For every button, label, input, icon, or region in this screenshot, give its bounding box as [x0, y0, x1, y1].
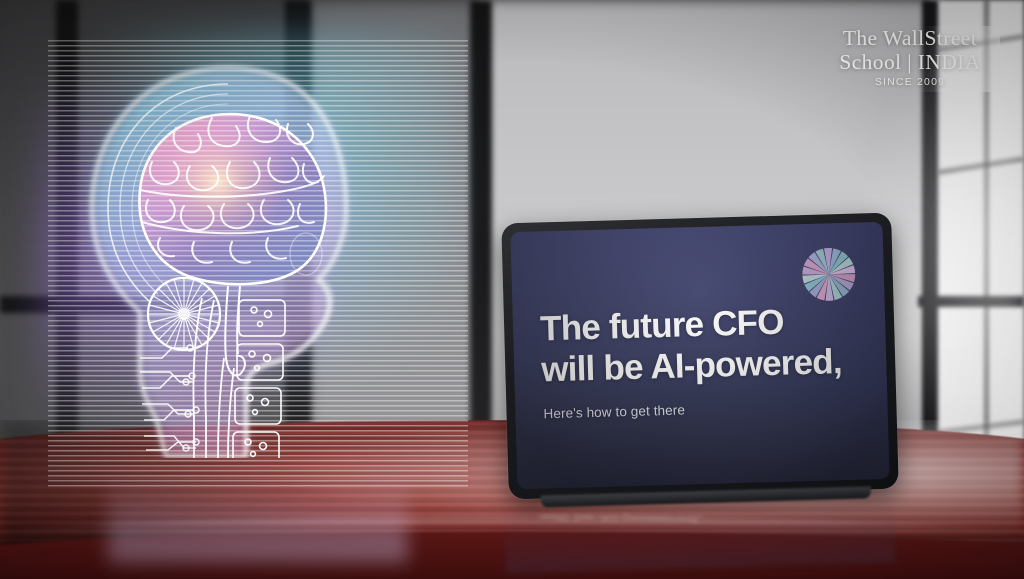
- brand-logo-line2: School | INDIA: [820, 50, 1000, 74]
- ai-brain-head-hologram: [48, 40, 468, 490]
- cerebellum: [148, 278, 220, 350]
- tablet-table-reflection: [504, 493, 896, 574]
- tablet-subheadline: Here's how to get there: [543, 402, 685, 421]
- tablet-headline: The future CFO will be AI-powered,: [540, 300, 877, 391]
- tablet-screen[interactable]: The future CFO will be AI-powered, Here'…: [510, 222, 889, 489]
- pinwheel-icon: [799, 245, 859, 305]
- tablet-headline-line2: will be AI-powered,: [541, 341, 877, 391]
- brand-logo-since: SINCE 2009: [820, 76, 1000, 88]
- hologram-head-svg: [78, 58, 408, 458]
- tablet-device[interactable]: The future CFO will be AI-powered, Here'…: [501, 213, 899, 500]
- brand-logo: The WallStreet School | INDIA SINCE 2009: [820, 26, 1000, 88]
- brand-logo-line1: The WallStreet: [820, 26, 1000, 50]
- hologram-table-reflection: [108, 472, 408, 562]
- promo-scene: The future CFO will be AI-powered, Here'…: [0, 0, 1024, 579]
- window-mullion-3: [470, 0, 492, 470]
